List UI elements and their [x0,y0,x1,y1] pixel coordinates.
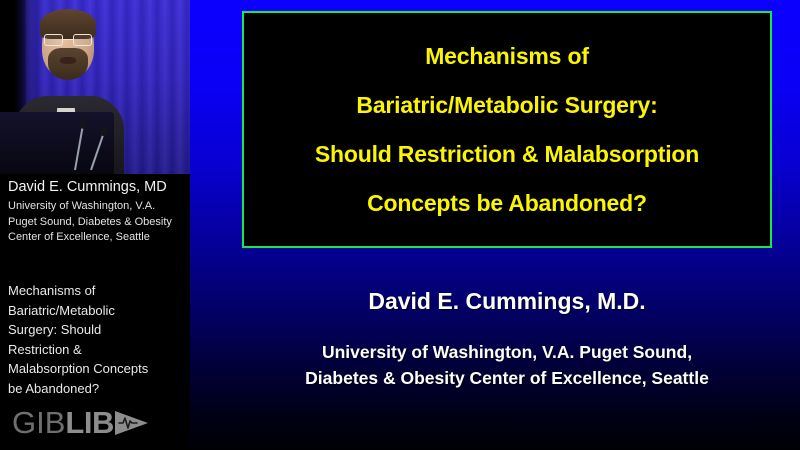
slide-presenter-affiliation-line-1: University of Washington, V.A. Puget Sou… [242,339,772,365]
speaker-video-thumbnail[interactable] [0,0,190,174]
speaker-glasses [44,34,92,46]
lecture-title-line-2: Bariatric/Metabolic [8,301,190,321]
slide-presenter-affiliation-line-2: Diabetes & Obesity Center of Excellence,… [242,365,772,391]
lecture-title-line-1: Mechanisms of [8,281,190,301]
left-overlay-panel: David E. Cummings, MD University of Wash… [0,0,190,450]
video-player-screen: Mechanisms of Bariatric/Metabolic Surger… [0,0,800,450]
giblib-logo-bold-text: LIB [65,408,113,438]
glasses-left-lens [44,34,63,46]
glasses-right-lens [73,34,92,46]
slide-title-line-4: Concepts be Abandoned? [367,192,647,215]
slide-title-line-3: Should Restriction & Malabsorption [315,143,699,166]
speaker-mouth [60,57,76,64]
lecture-title-overlay: Mechanisms of Bariatric/Metabolic Surger… [0,281,190,398]
lecture-title-line-4: Restriction & [8,340,190,360]
lecture-title-line-6: be Abandoned? [8,379,190,399]
podium [0,112,114,174]
slide-presenter-block: David E. Cummings, M.D. University of Wa… [242,290,772,391]
lecture-title-line-3: Surgery: Should [8,320,190,340]
glasses-bridge [63,39,73,40]
speaker-caption-affiliation: University of Washington, V.A. Puget Sou… [0,197,190,246]
giblib-logo[interactable]: GIB LIB [12,408,149,438]
speaker-caption-name: David E. Cummings, MD [0,178,190,197]
lecture-title-line-5: Malabsorption Concepts [8,359,190,379]
play-pulse-icon [115,409,149,437]
slide-title-line-2: Bariatric/Metabolic Surgery: [356,94,657,117]
speaker-beard [48,48,88,80]
slide-title-box: Mechanisms of Bariatric/Metabolic Surger… [242,11,772,248]
speaker-caption: David E. Cummings, MD University of Wash… [0,174,190,252]
slide-presenter-name: David E. Cummings, M.D. [242,290,772,313]
giblib-logo-light-text: GIB [12,408,65,438]
slide-title-line-1: Mechanisms of [425,45,589,68]
